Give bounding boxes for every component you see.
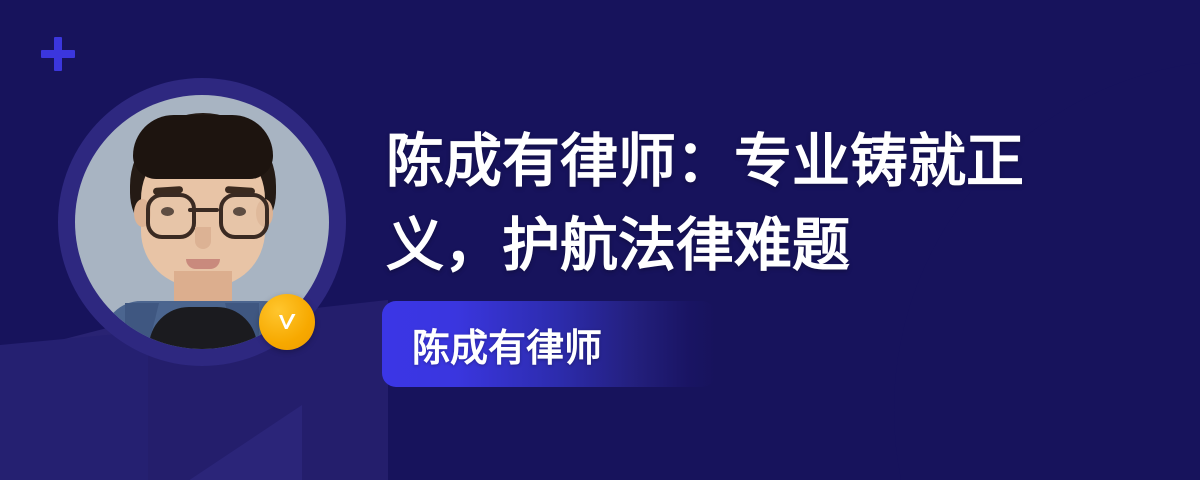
avatar-glasses-right — [219, 193, 269, 239]
lawyer-profile-banner: 陈成有律师：专业铸就正义，护航法律难题 陈成有律师 — [0, 0, 1200, 480]
avatar-nose — [195, 227, 211, 249]
page-title: 陈成有律师：专业铸就正义，护航法律难题 — [386, 120, 1086, 288]
avatar-fringe — [133, 115, 273, 179]
plus-icon — [41, 37, 75, 71]
lawyer-name-button-label: 陈成有律师 — [382, 317, 602, 372]
lawyer-name-button[interactable]: 陈成有律师 — [382, 301, 716, 387]
verified-check-icon — [259, 294, 315, 350]
avatar-mouth — [186, 259, 220, 269]
avatar-glasses-left — [146, 193, 196, 239]
avatar-glasses-bridge — [188, 208, 219, 212]
